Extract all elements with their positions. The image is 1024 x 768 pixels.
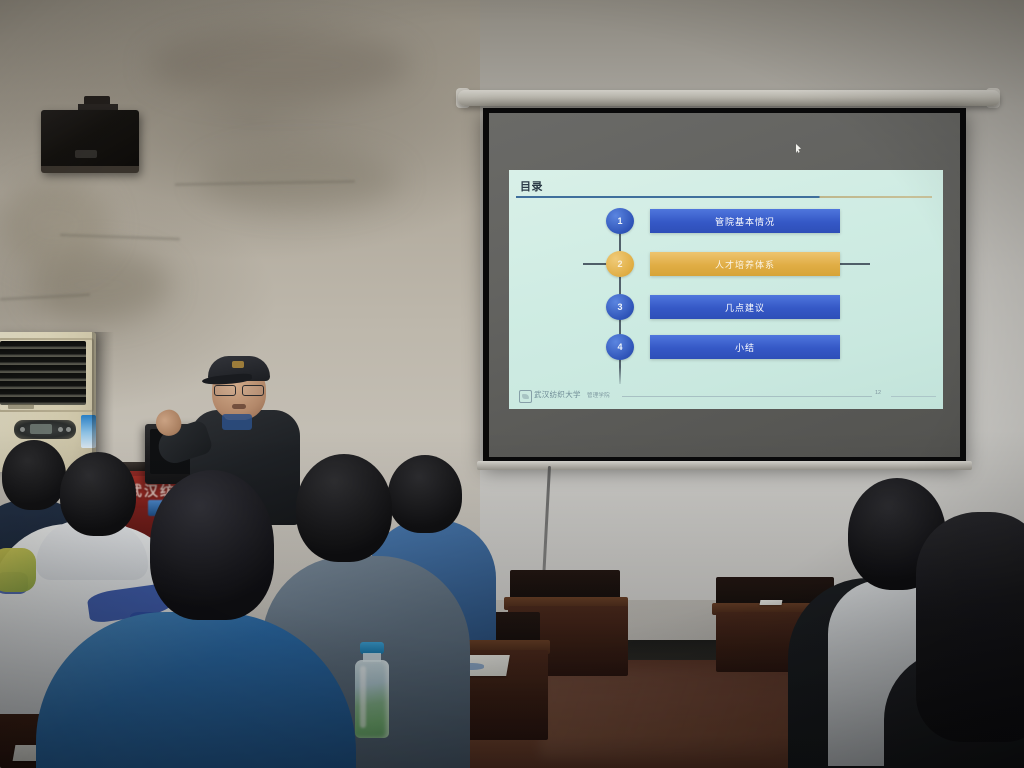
footer-divider [891,396,936,397]
toc-item-number: 1 [606,208,634,234]
slide-page-number: 12 [875,390,881,396]
toc-item[interactable]: 4 小结 [509,334,943,360]
toc-item-label: 小结 [650,335,840,359]
presenter-glasses [214,385,264,394]
handout-paper [760,600,783,605]
slide-toc: 1 管院基本情况 2 人才培养体系 3 几点建议 4 小结 [509,208,943,393]
wall-speaker-edge [41,166,139,173]
toc-item-number: 3 [606,294,634,320]
toc-item-active[interactable]: 2 人才培养体系 [509,251,943,277]
toc-item[interactable]: 1 管院基本情况 [509,208,943,234]
toc-connector-right [840,263,870,265]
classroom-photo: 目录 1 管院基本情况 2 人才培养体系 3 几点建议 [0,0,1024,768]
university-name: 武汉纺织大学 [534,389,581,400]
footer-divider [622,396,872,397]
air-conditioner-button[interactable] [20,427,25,432]
desk-backrest [510,570,620,600]
presenter-mouth [232,404,246,409]
air-conditioner-shadow [92,332,114,472]
audience-member-bag [0,548,36,592]
audience-member-head [150,470,274,620]
presentation-slide: 目录 1 管院基本情况 2 人才培养体系 3 几点建议 [509,170,943,409]
air-conditioner-logo [8,404,34,409]
school-name: 管理学院 [587,391,610,399]
presenter-cap-badge [232,361,244,368]
screen-bottom-weight-bar [477,461,972,470]
water-bottle[interactable] [354,642,390,738]
screen-roller-housing[interactable] [458,90,1000,106]
slide-footer: 武汉纺织大学 管理学院 12 [509,388,943,404]
air-conditioner-button[interactable] [58,427,63,432]
toc-item[interactable]: 3 几点建议 [509,294,943,320]
audience-member-head [388,455,462,533]
toc-item-number: 4 [606,334,634,360]
audience-member-head [2,440,66,510]
toc-item-label: 人才培养体系 [650,252,840,276]
air-conditioner-button[interactable] [66,427,71,432]
air-conditioner-display [30,424,52,434]
audience-member-head [296,454,392,562]
air-conditioner-grille [0,341,86,405]
toc-item-number: 2 [606,251,634,277]
slide-title-divider [516,196,932,198]
audience-member-head [60,452,136,536]
toc-item-label: 几点建议 [650,295,840,319]
presenter-collar [222,414,252,430]
wall-speaker [41,110,139,172]
slide-title: 目录 [520,178,543,194]
toc-item-label: 管院基本情况 [650,209,840,233]
audience-member-hair [916,512,1024,742]
university-logo-icon [519,390,532,403]
bottle-highlight [360,666,366,728]
